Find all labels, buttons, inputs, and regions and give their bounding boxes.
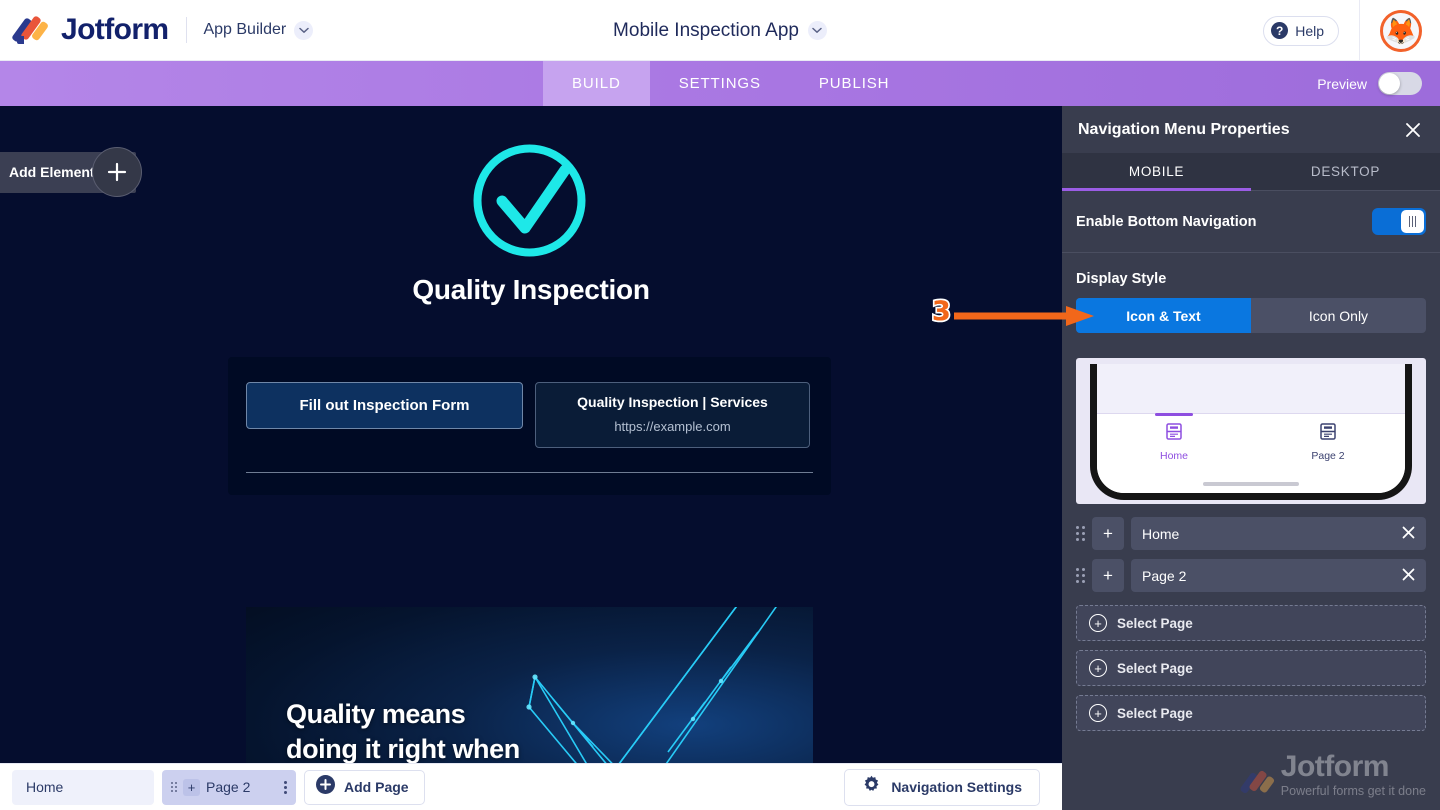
select-page-slot-1[interactable]: + Select Page [1076,605,1426,641]
preview-toggle[interactable] [1378,72,1422,95]
drag-handle-icon[interactable] [1076,526,1085,541]
quote-text: Quality means doing it right when no one… [286,697,520,763]
drag-handle-icon[interactable] [171,782,177,792]
jotform-watermark: Jotform Powerful forms get it done [1241,752,1426,798]
enable-bottom-navigation-row: Enable Bottom Navigation [1062,191,1440,253]
add-page-button[interactable]: Add Page [304,770,425,805]
segment-icon-only[interactable]: Icon Only [1251,298,1426,333]
phone-preview: Home Page 2 [1076,358,1426,504]
panel-tabs: MOBILE DESKTOP [1062,153,1440,191]
annotation-number: 3 [932,296,951,327]
select-page-slot-2[interactable]: + Select Page [1076,650,1426,686]
page-title: Mobile Inspection App [613,20,799,42]
add-page-label: Add Page [344,779,409,795]
preview-label: Preview [1317,76,1367,92]
circle-check-icon [469,140,590,261]
active-indicator [1155,413,1193,416]
link-card-title: Quality Inspection | Services [546,394,799,410]
canvas-buttons-block: Fill out Inspection Form Quality Inspect… [228,357,831,495]
select-page-slot-3[interactable]: + Select Page [1076,695,1426,731]
app-root: Jotform App Builder Mobile Inspection Ap… [0,0,1440,810]
annotation-arrow-icon [954,304,1104,344]
select-page-label-3: Select Page [1117,706,1193,721]
tab-mobile[interactable]: MOBILE [1062,153,1251,190]
drag-handle-icon[interactable] [1076,568,1085,583]
avatar[interactable]: 🦊 [1380,10,1422,52]
page-name-input-home[interactable]: Home [1131,517,1426,550]
tab-publish[interactable]: PUBLISH [790,61,919,106]
watermark-tagline: Powerful forms get it done [1281,784,1426,798]
page-tab-page-2[interactable]: + Page 2 [162,770,296,805]
tab-desktop[interactable]: DESKTOP [1251,153,1440,190]
panel-header: Navigation Menu Properties [1062,106,1440,153]
plus-circle-icon: + [1089,659,1107,677]
add-element-control[interactable]: Add Element [0,147,142,197]
nav-page-row-home: + Home [1076,517,1426,550]
brand-name: Jotform [61,13,168,47]
header-right-divider [1359,0,1360,61]
link-card-url: https://example.com [546,419,799,434]
nav-page-row-page-2: + Page 2 [1076,559,1426,592]
plus-icon[interactable]: + [183,779,200,796]
add-icon-button-page-2[interactable]: + [1092,559,1124,592]
add-icon-button-home[interactable]: + [1092,517,1124,550]
more-options-icon[interactable] [278,781,287,794]
canvas-divider [246,472,813,473]
plus-circle-icon: + [1089,614,1107,632]
app-builder-menu[interactable]: App Builder [203,21,313,40]
top-header: Jotform App Builder Mobile Inspection Ap… [0,0,1440,61]
quote-image[interactable]: Quality means doing it right when no one… [246,607,813,763]
close-icon[interactable] [1402,568,1415,584]
canvas-button-row: Fill out Inspection Form Quality Inspect… [246,382,813,448]
display-style-segmented-control: Icon & Text Icon Only [1076,298,1426,333]
canvas-app-title: Quality Inspection [0,274,1062,306]
quote-line-1: Quality means [286,697,520,732]
page-name-value-page-2: Page 2 [1142,568,1186,584]
page-tab-home[interactable]: Home [12,770,154,805]
jotform-logo-icon [14,13,50,47]
select-page-label-2: Select Page [1117,661,1193,676]
page-icon [1320,423,1336,445]
plus-circle-icon [316,775,335,799]
page-tab-home-label: Home [26,779,63,795]
tab-settings[interactable]: SETTINGS [650,61,790,106]
question-mark-icon: ? [1271,22,1288,39]
build-subnav: BUILD SETTINGS PUBLISH Preview [0,61,1440,106]
page-name-value-home: Home [1142,526,1179,542]
display-style-section: Display Style Icon & Text Icon Only [1062,253,1440,333]
help-label: Help [1295,23,1324,39]
header-right-group: ? Help 🦊 [1263,0,1440,61]
wireframe-check-graphic [493,607,813,763]
page-bottom-bar: Home + Page 2 Add Page Navigation Settin… [0,763,1062,810]
subnav-spacer [0,61,543,106]
page-tab-page-2-label: Page 2 [206,779,272,795]
toggle-knob [1401,210,1424,233]
plus-circle-icon: + [1089,704,1107,722]
add-element-button[interactable] [92,147,142,197]
preview-toggle-group: Preview [1317,61,1440,106]
phone-frame: Home Page 2 [1090,364,1412,500]
help-button[interactable]: ? Help [1263,16,1339,46]
jotform-logo-icon [1241,768,1273,798]
chevron-down-icon[interactable] [294,21,313,40]
title-chevron-down-icon[interactable] [808,21,827,40]
gear-icon [862,775,881,799]
app-canvas: Add Element Quality Inspection Fill out … [0,106,1062,763]
navigation-settings-label: Navigation Settings [891,779,1022,795]
navigation-menu-properties-panel: Navigation Menu Properties MOBILE DESKTO… [1062,106,1440,810]
select-page-label-1: Select Page [1117,616,1193,631]
close-icon[interactable] [1402,526,1415,542]
quote-line-2: doing it right when [286,732,520,763]
page-name-input-page-2[interactable]: Page 2 [1131,559,1426,592]
panel-title: Navigation Menu Properties [1078,121,1290,139]
enable-bottom-navigation-toggle[interactable] [1372,208,1426,235]
cat-avatar-icon: 🦊 [1385,18,1417,44]
watermark-brand: Jotform [1281,752,1426,782]
link-card[interactable]: Quality Inspection | Services https://ex… [535,382,810,448]
brand-area[interactable]: Jotform [0,13,168,47]
tab-build[interactable]: BUILD [543,61,650,106]
phone-screen-content [1097,364,1405,414]
phone-nav-page2-label: Page 2 [1311,450,1344,462]
page-icon [1166,423,1182,445]
header-divider [186,17,187,43]
enable-bottom-navigation-label: Enable Bottom Navigation [1076,214,1256,230]
close-icon[interactable] [1402,119,1424,141]
home-indicator-bar [1203,482,1299,486]
app-builder-label: App Builder [203,21,286,39]
navigation-settings-button[interactable]: Navigation Settings [844,769,1040,806]
fill-out-inspection-form-button[interactable]: Fill out Inspection Form [246,382,523,429]
phone-nav-home-label: Home [1160,450,1188,462]
nav-page-list: + Home + Page 2 [1062,504,1440,731]
display-style-label: Display Style [1076,271,1426,287]
